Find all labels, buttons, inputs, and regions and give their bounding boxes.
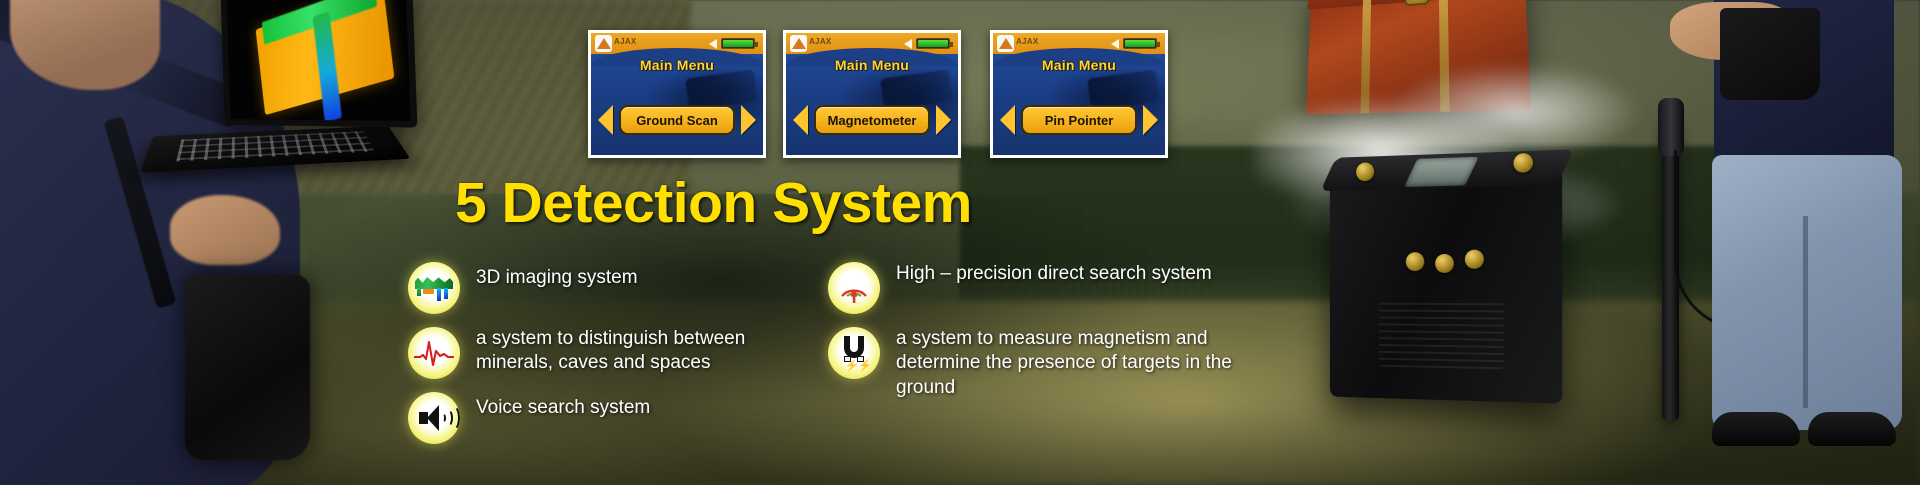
brand-logo-icon — [595, 35, 612, 52]
radar-signal-icon — [828, 262, 880, 314]
prev-mode-arrow-icon[interactable] — [793, 105, 808, 135]
feature-list-left: 3D imaging system a system to distinguis… — [408, 262, 788, 457]
mode-label[interactable]: Pin Pointer — [1021, 105, 1137, 135]
feature-label: 3D imaging system — [476, 262, 638, 290]
prev-mode-arrow-icon[interactable] — [1000, 105, 1015, 135]
brand-logo-icon — [997, 35, 1014, 52]
feature-item-mineral-distinction: a system to distinguish between minerals… — [408, 327, 788, 379]
card-title: Main Menu — [591, 57, 763, 73]
speaker-icon — [709, 39, 717, 49]
page-title: 5 Detection System — [455, 170, 972, 236]
banner-stage: AJAX Main Menu Ground Scan AJAX Main Men… — [0, 0, 1920, 485]
feature-item-high-precision: High – precision direct search system — [828, 262, 1248, 314]
feature-label: a system to distinguish between minerals… — [476, 327, 788, 376]
menu-card-magnetometer[interactable]: AJAX Main Menu Magnetometer — [783, 30, 961, 158]
next-mode-arrow-icon[interactable] — [1143, 105, 1158, 135]
battery-icon — [916, 38, 950, 49]
feature-label: Voice search system — [476, 392, 650, 420]
mode-label[interactable]: Magnetometer — [814, 105, 930, 135]
card-title: Main Menu — [786, 57, 958, 73]
feature-list-right: High – precision direct search system ⚡ … — [828, 262, 1248, 413]
feature-item-voice-search: Voice search system — [408, 392, 788, 444]
card-title: Main Menu — [993, 57, 1165, 73]
brand-label: AJAX — [614, 37, 637, 46]
3d-terrain-icon — [408, 262, 460, 314]
speaker-sound-icon — [408, 392, 460, 444]
brand-label: AJAX — [809, 37, 832, 46]
speaker-icon — [904, 39, 912, 49]
feature-label: a system to measure magnetism and determ… — [896, 327, 1248, 400]
feature-item-magnetism: ⚡ ⚡ a system to measure magnetism and de… — [828, 327, 1248, 400]
next-mode-arrow-icon[interactable] — [936, 105, 951, 135]
mode-label[interactable]: Ground Scan — [619, 105, 735, 135]
card-mode-selector: Magnetometer — [786, 105, 958, 135]
prev-mode-arrow-icon[interactable] — [598, 105, 613, 135]
speaker-icon — [1111, 39, 1119, 49]
brand-label: AJAX — [1016, 37, 1039, 46]
ecg-waveform-icon — [408, 327, 460, 379]
battery-icon — [721, 38, 755, 49]
brand-logo-icon — [790, 35, 807, 52]
card-mode-selector: Pin Pointer — [993, 105, 1165, 135]
card-mode-selector: Ground Scan — [591, 105, 763, 135]
magnet-icon: ⚡ ⚡ — [828, 327, 880, 379]
menu-card-ground-scan[interactable]: AJAX Main Menu Ground Scan — [588, 30, 766, 158]
next-mode-arrow-icon[interactable] — [741, 105, 756, 135]
feature-label: High – precision direct search system — [896, 262, 1212, 286]
battery-icon — [1123, 38, 1157, 49]
menu-card-pin-pointer[interactable]: AJAX Main Menu Pin Pointer — [990, 30, 1168, 158]
feature-item-3d-imaging: 3D imaging system — [408, 262, 788, 314]
